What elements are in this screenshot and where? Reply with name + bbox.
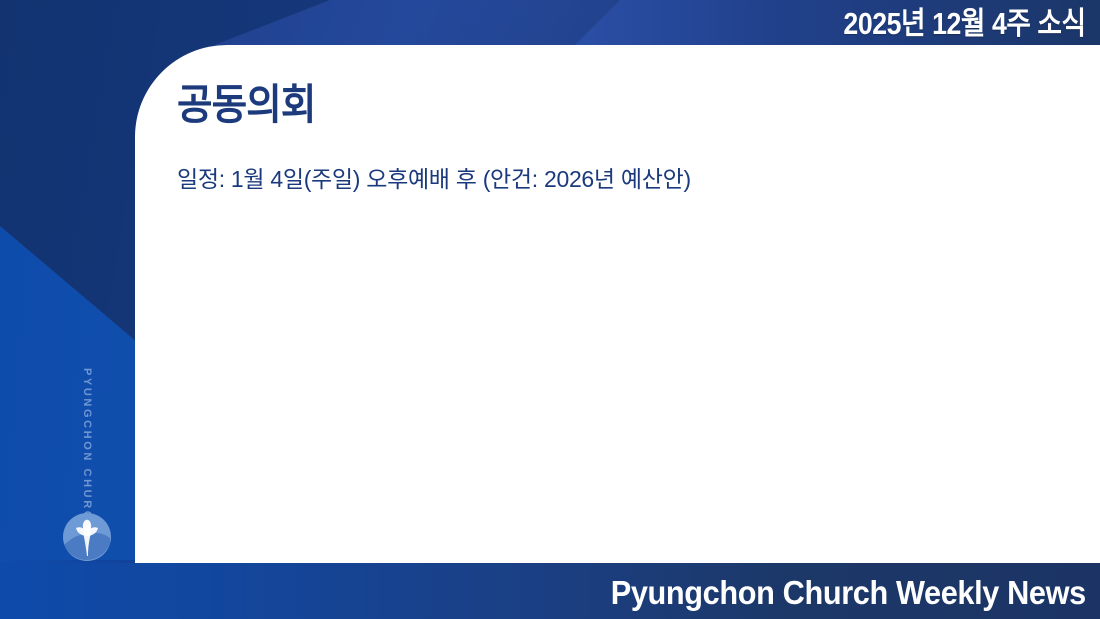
page-title: 공동의회 (177, 82, 316, 128)
content-card: 공동의회 일정: 1월 4일(주일) 오후예배 후 (안건: 2026년 예산안… (135, 45, 1100, 563)
weekly-news-slide: 2025년 12월 4주 소식 공동의회 일정: 1월 4일(주일) 오후예배 … (0, 0, 1100, 619)
vertical-brand-label: PYUNGCHON CHURCH (81, 368, 92, 532)
announcement-body-text: 일정: 1월 4일(주일) 오후예배 후 (안건: 2026년 예산안) (177, 162, 1060, 196)
church-flower-logo-icon (62, 512, 112, 562)
footer-brand-label: Pyungchon Church Weekly News (611, 575, 1086, 611)
issue-label: 2025년 12월 4주 소식 (844, 7, 1086, 41)
